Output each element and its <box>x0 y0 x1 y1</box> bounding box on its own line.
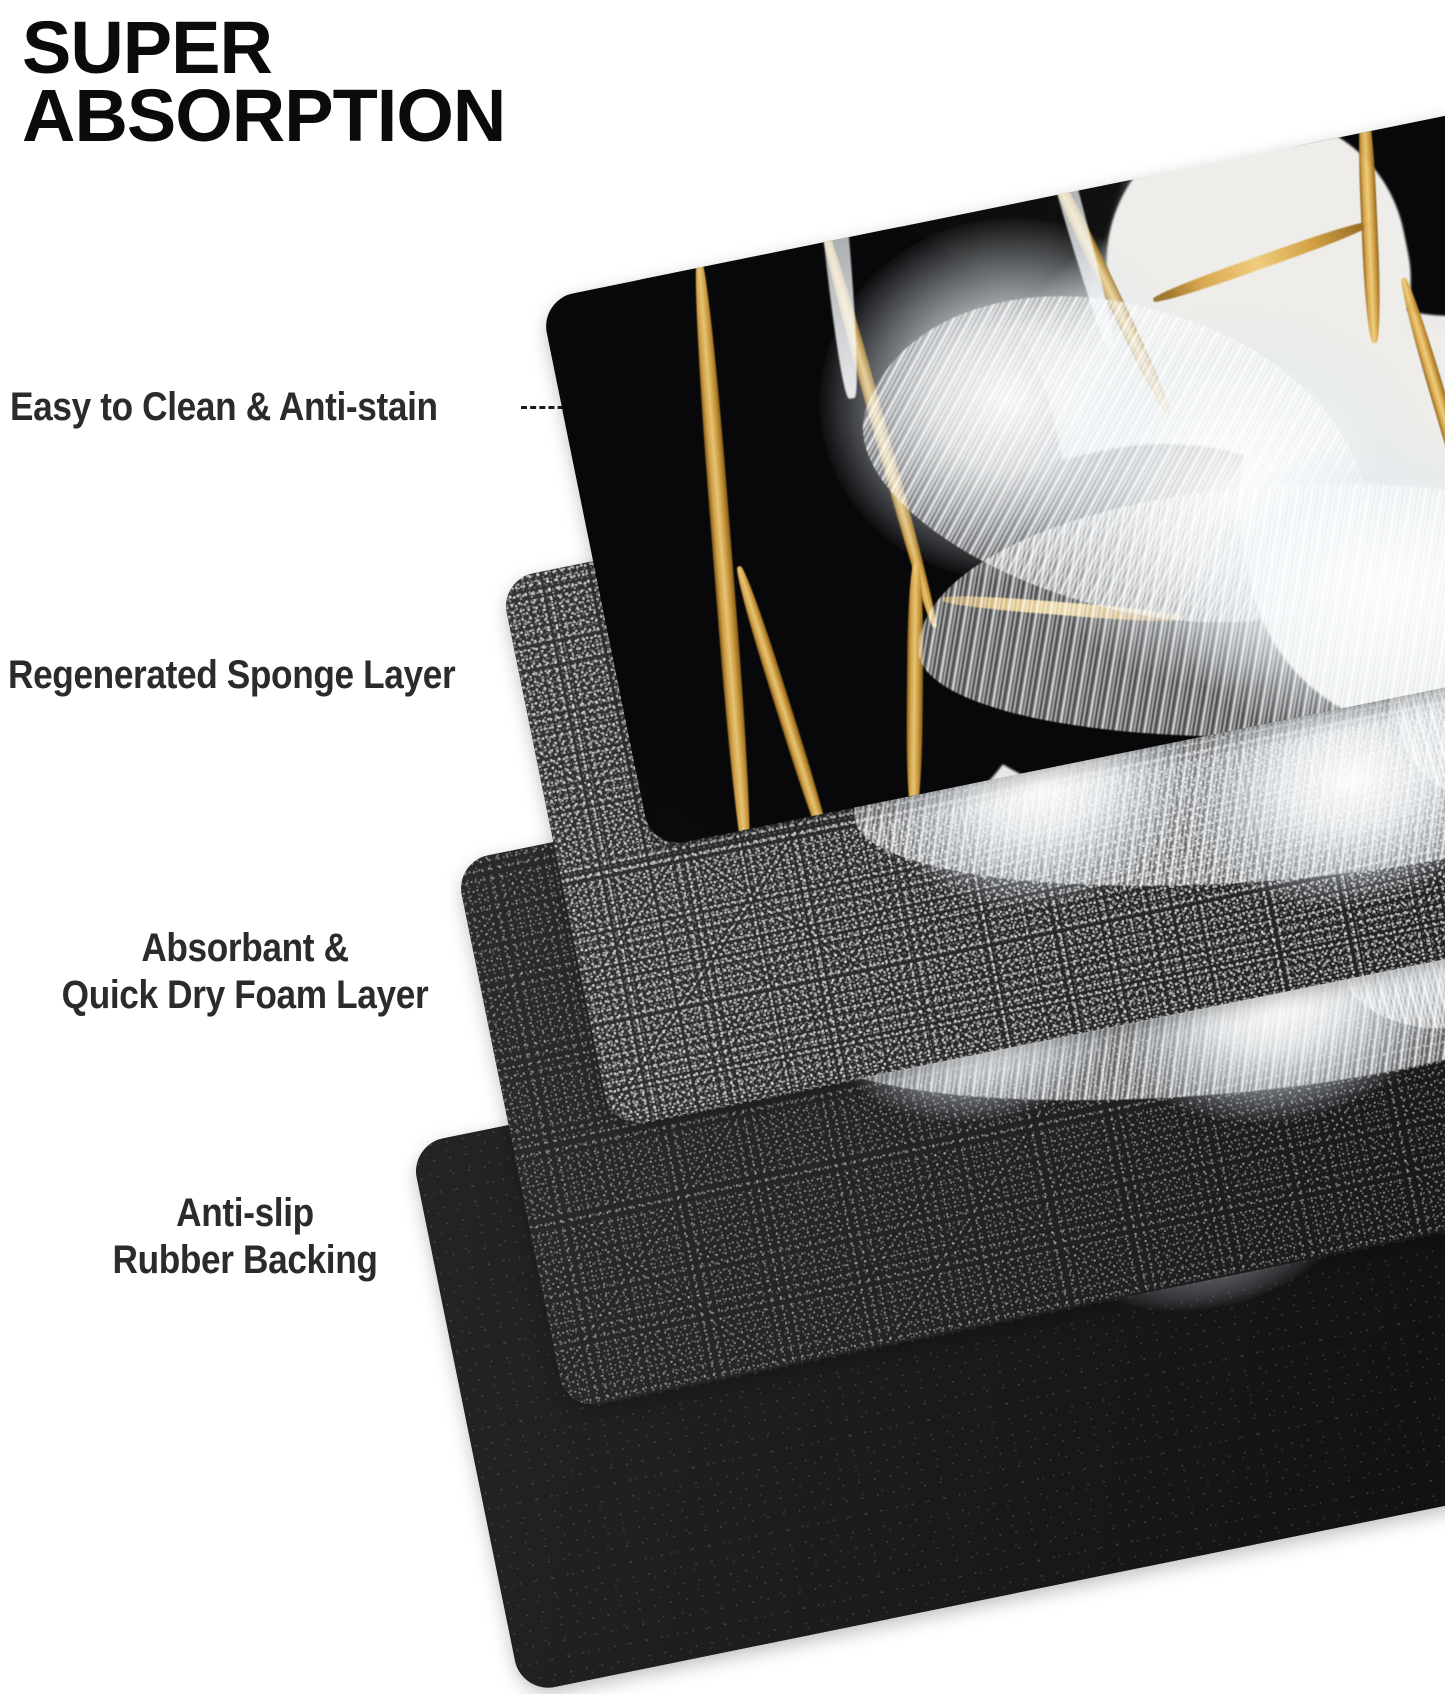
label-absorbant-quick-dry-foam-layer: Absorbant & Quick Dry Foam Layer <box>47 925 443 1019</box>
page-title: SUPER ABSORPTION <box>22 14 642 150</box>
label-regenerated-sponge-layer: Regenerated Sponge Layer <box>8 652 455 699</box>
label-easy-to-clean: Easy to Clean & Anti-stain <box>10 384 438 431</box>
label-anti-slip-rubber-backing: Anti-slip Rubber Backing <box>47 1190 443 1284</box>
